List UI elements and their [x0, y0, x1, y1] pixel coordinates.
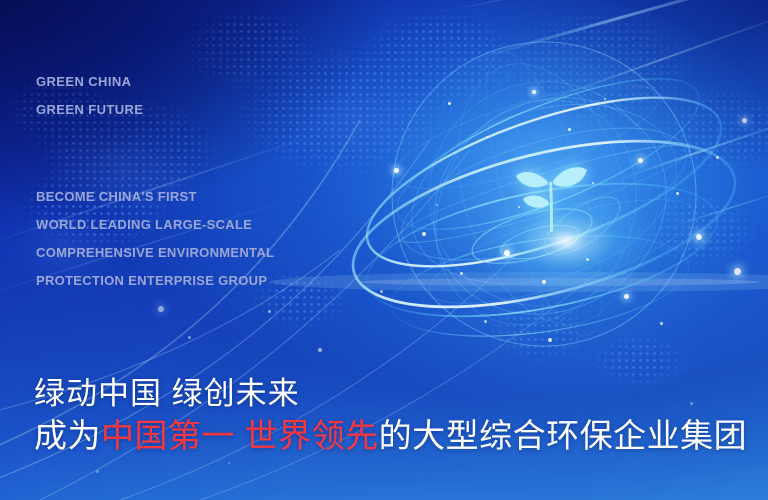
- english-slogan: BECOME CHINA'S FIRST WORLD LEADING LARGE…: [36, 183, 274, 295]
- tagline-line-2: GREEN FUTURE: [36, 96, 143, 124]
- chinese-headline-line-2: 成为中国第一 世界领先的大型综合环保企业集团: [34, 414, 747, 458]
- headline-part-prefix: 成为: [34, 417, 101, 454]
- english-tagline-top: GREEN CHINA GREEN FUTURE: [36, 68, 143, 124]
- slogan-line-3: COMPREHENSIVE ENVIRONMENTAL: [36, 239, 274, 267]
- wireframe-globe: [336, 36, 756, 366]
- chinese-headline: 绿动中国 绿创未来 成为中国第一 世界领先的大型综合环保企业集团: [34, 374, 747, 458]
- headline-part-highlight: 中国第一 世界领先: [101, 417, 379, 454]
- slogan-line-2: WORLD LEADING LARGE-SCALE: [36, 211, 274, 239]
- slogan-line-4: PROTECTION ENTERPRISE GROUP: [36, 267, 274, 295]
- chinese-headline-line-1: 绿动中国 绿创未来: [34, 374, 747, 414]
- promo-banner: GREEN CHINA GREEN FUTURE BECOME CHINA'S …: [0, 0, 768, 500]
- slogan-line-1: BECOME CHINA'S FIRST: [36, 183, 274, 211]
- headline-part-suffix: 的大型综合环保企业集团: [379, 417, 748, 454]
- seedling-sprout-icon: [512, 156, 590, 246]
- tagline-line-1: GREEN CHINA: [36, 68, 143, 96]
